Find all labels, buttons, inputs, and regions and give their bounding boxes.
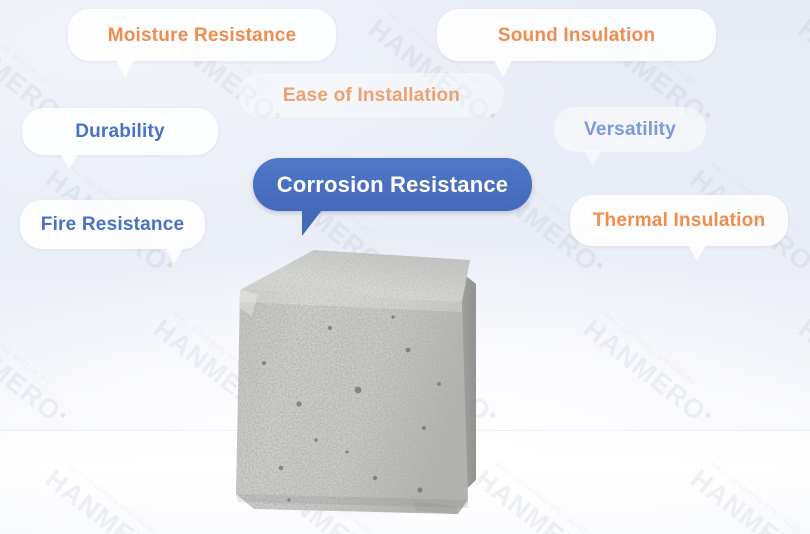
infographic-canvas: WALL COVERING SPECIALISTHANMEROWALL COVE…: [0, 0, 810, 534]
vignette-overlay: [0, 0, 810, 534]
